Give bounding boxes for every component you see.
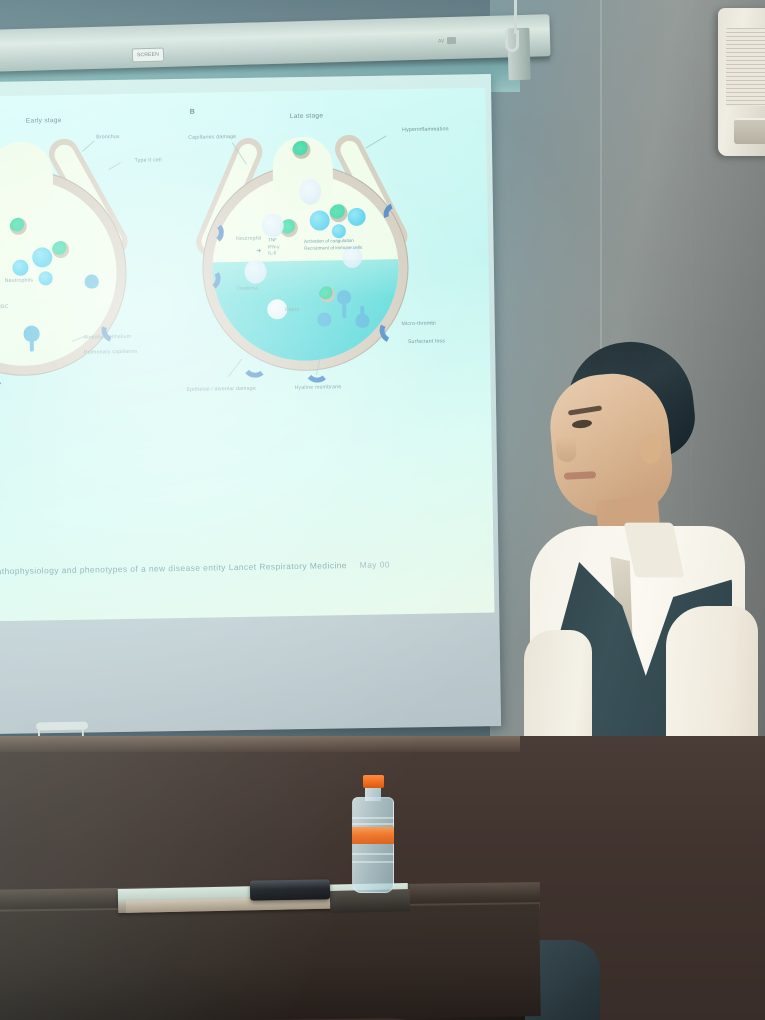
roller-hook-icon[interactable] — [505, 30, 519, 52]
bottle-ridge-1 — [352, 817, 394, 819]
panel-a-label-5: Alveolar epithelium — [84, 334, 132, 341]
panel-b-label-7: Micro-thrombi — [401, 321, 435, 328]
panel-b-label-6: Hyaline membrane — [295, 384, 342, 391]
panel-b-label-2: Neutrophil — [236, 236, 262, 242]
ac-vent-icon — [734, 118, 765, 144]
roller-badge-icon — [447, 37, 456, 44]
desk-front-panel — [0, 904, 541, 1020]
panel-b-cytokine-left: TNF IFN-y IL-6 — [268, 237, 280, 257]
panel-b-fibrin-3-stalk — [360, 306, 364, 318]
bottle-label — [352, 827, 394, 844]
panel-a-label-7: RBC — [0, 304, 9, 310]
panel-a-label-2: Type II cell — [135, 157, 162, 163]
panel-a-label-3: Bronchus — [96, 134, 120, 140]
panel-a-macrophage-4 — [85, 274, 99, 288]
slide-panel-b: B Late stage — [186, 104, 492, 429]
panel-b-alveolar-fluid — [211, 259, 400, 362]
panel-b-fibrin-1-stalk — [342, 302, 346, 318]
presenter-nose — [555, 433, 577, 462]
panel-b-letter: B — [190, 109, 195, 116]
cytokine-il6: IL-6 — [268, 251, 279, 258]
panel-a-label-6: Pulmonary capillaries — [84, 349, 138, 356]
roller-cord[interactable] — [514, 0, 517, 34]
wainscot-top-band — [0, 736, 520, 752]
slide-caption: g pathophysiology and phenotypes of a ne… — [0, 558, 484, 577]
panel-b-label-0: Capillaries damage — [188, 134, 236, 141]
bottle-ridge-3 — [352, 853, 394, 855]
roller-label: SCREEN — [132, 48, 164, 63]
presenter-ear — [640, 434, 662, 464]
panel-a-label-4: Neutrophils — [5, 278, 34, 284]
panel-b-label-1: Hyperinflammation — [402, 126, 449, 133]
panel-a-macrophage-3-stalk — [30, 338, 34, 352]
bottle-ridge-2 — [352, 823, 394, 825]
slide-panel-a: Early stage — [0, 117, 189, 422]
projected-slide: Early stage — [0, 88, 495, 622]
panel-b-title: Late stage — [290, 112, 323, 120]
slide-caption-date: May 00 — [360, 559, 390, 570]
panel-b-label-3: Oedema — [237, 286, 258, 292]
presentation-room-scene: SCREEN AV Early stage — [0, 0, 765, 1020]
panel-b-label-8: Surfactant loss — [408, 338, 445, 345]
roller-badge-text: AV — [438, 38, 444, 44]
bottle-ridge-4 — [352, 861, 394, 863]
panel-b-leader-2 — [365, 135, 386, 148]
panel-b-cytokine-right: Activation of coagulation Recruitment of… — [304, 238, 362, 252]
roller-brand-badge: AV — [438, 35, 476, 45]
desk-phone[interactable] — [250, 879, 330, 900]
panel-b-fibrin-2 — [317, 312, 331, 326]
cytokine-effect-2: Recruitment of immune cells — [304, 244, 362, 252]
water-bottle[interactable] — [352, 775, 394, 893]
ac-grille-icon — [726, 28, 765, 106]
panel-b-label-5: Epithelial / alveolar damage — [187, 386, 256, 393]
slide-caption-text: g pathophysiology and phenotypes of a ne… — [0, 560, 347, 576]
cytokine-arrow-icon: ➜ — [256, 248, 261, 255]
panel-a-leader-1 — [108, 162, 121, 170]
bottle-body — [352, 797, 394, 893]
panel-a-title: Early stage — [26, 117, 62, 125]
panel-b-leader-3 — [228, 359, 242, 377]
bottle-cap[interactable] — [363, 775, 384, 788]
panel-b-label-4: Fibrin — [285, 307, 299, 313]
panel-a-leader-2 — [82, 141, 95, 152]
